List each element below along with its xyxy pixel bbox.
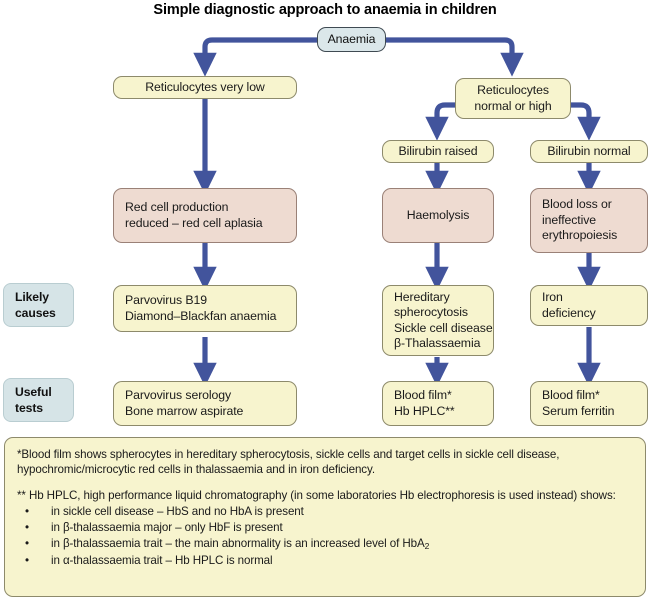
footnote-spacer — [17, 477, 633, 488]
footnote-bullet-list: • in sickle cell disease – HbS and no Hb… — [17, 504, 633, 570]
connector-retic-normal-to-bilirubin-normal — [571, 105, 589, 128]
node-reticulocytes-normal-or-high[interactable]: Reticulocytes normal or high — [455, 78, 571, 119]
node-bilirubin-normal-label: Bilirubin normal — [547, 144, 630, 159]
node-haemolysis[interactable]: Haemolysis — [382, 188, 494, 243]
node-bilirubin-raised-label: Bilirubin raised — [398, 144, 477, 159]
node-red-cell-production[interactable]: Red cell production reduced – red cell a… — [113, 188, 297, 243]
node-tests-left[interactable]: Parvovirus serology Bone marrow aspirate — [113, 381, 297, 426]
node-tests-left-label: Parvovirus serology Bone marrow aspirate — [125, 388, 243, 419]
side-label-useful-tests-text: Useful tests — [15, 384, 52, 416]
footnote-bullet-item: • in β-thalassaemia trait – the main abn… — [17, 536, 633, 552]
footnote-bullet-text: in β-thalassaemia trait – the main abnor… — [51, 537, 425, 550]
node-reticulocytes-very-low-label: Reticulocytes very low — [145, 80, 264, 95]
footnote-bullet-item: • in β-thalassaemia major – only HbF is … — [17, 520, 633, 536]
bullet-glyph-icon: • — [17, 536, 51, 552]
bullet-glyph-icon: • — [17, 520, 51, 536]
flowchart-canvas: Simple diagnostic approach to anaemia in… — [0, 0, 650, 602]
footnote-bullet-text: in sickle cell disease – HbS and no HbA … — [51, 504, 304, 520]
footnote-bullet-item: • in α-thalassaemia trait – Hb HPLC is n… — [17, 553, 633, 569]
node-blood-loss[interactable]: Blood loss or ineffective erythropoiesis — [530, 188, 648, 253]
footnote-paragraph-1: *Blood film shows spherocytes in heredit… — [17, 447, 633, 477]
footnote-subscript: 2 — [425, 541, 430, 551]
node-tests-right-label: Blood film* Serum ferritin — [542, 388, 614, 419]
side-label-likely-causes-text: Likely causes — [15, 289, 56, 321]
node-anaemia[interactable]: Anaemia — [317, 27, 386, 52]
node-causes-right[interactable]: Iron deficiency — [530, 285, 648, 326]
node-causes-middle[interactable]: Hereditary spherocytosis Sickle cell dis… — [382, 285, 494, 356]
node-causes-right-label: Iron deficiency — [542, 290, 596, 321]
node-causes-middle-label: Hereditary spherocytosis Sickle cell dis… — [394, 290, 493, 352]
page-title: Simple diagnostic approach to anaemia in… — [0, 2, 650, 18]
connector-anaemia-to-retic-low — [205, 40, 318, 64]
node-tests-right[interactable]: Blood film* Serum ferritin — [530, 381, 648, 426]
node-anaemia-label: Anaemia — [328, 32, 376, 47]
footnote-bullet-text: in α-thalassaemia trait – Hb HPLC is nor… — [51, 553, 272, 569]
node-blood-loss-label: Blood loss or ineffective erythropoiesis — [542, 197, 617, 243]
bullet-glyph-icon: • — [17, 504, 51, 520]
node-causes-left-label: Parvovirus B19 Diamond–Blackfan anaemia — [125, 293, 276, 324]
node-tests-middle-label: Blood film* Hb HPLC** — [394, 388, 455, 419]
footnote-bullet-item: • in sickle cell disease – HbS and no Hb… — [17, 504, 633, 520]
node-causes-left[interactable]: Parvovirus B19 Diamond–Blackfan anaemia — [113, 285, 297, 332]
node-bilirubin-raised[interactable]: Bilirubin raised — [382, 140, 494, 163]
node-reticulocytes-normal-or-high-label: Reticulocytes normal or high — [474, 83, 551, 114]
connector-anaemia-to-retic-normal — [385, 40, 512, 64]
footnote-bullet-text-wrapper: in β-thalassaemia trait – the main abnor… — [51, 536, 429, 552]
node-haemolysis-label: Haemolysis — [407, 208, 470, 223]
side-label-useful-tests: Useful tests — [3, 378, 74, 422]
bullet-glyph-icon: • — [17, 553, 51, 569]
footnote-bullet-text: in β-thalassaemia major – only HbF is pr… — [51, 520, 283, 536]
node-reticulocytes-very-low[interactable]: Reticulocytes very low — [113, 76, 297, 99]
node-red-cell-production-label: Red cell production reduced – red cell a… — [125, 200, 263, 231]
node-bilirubin-normal[interactable]: Bilirubin normal — [530, 140, 648, 163]
footnote-panel: *Blood film shows spherocytes in heredit… — [4, 437, 646, 597]
node-tests-middle[interactable]: Blood film* Hb HPLC** — [382, 381, 494, 426]
connector-retic-normal-to-bilirubin-raised — [437, 105, 455, 128]
footnote-paragraph-2: ** Hb HPLC, high performance liquid chro… — [17, 488, 633, 503]
side-label-likely-causes: Likely causes — [3, 283, 74, 327]
